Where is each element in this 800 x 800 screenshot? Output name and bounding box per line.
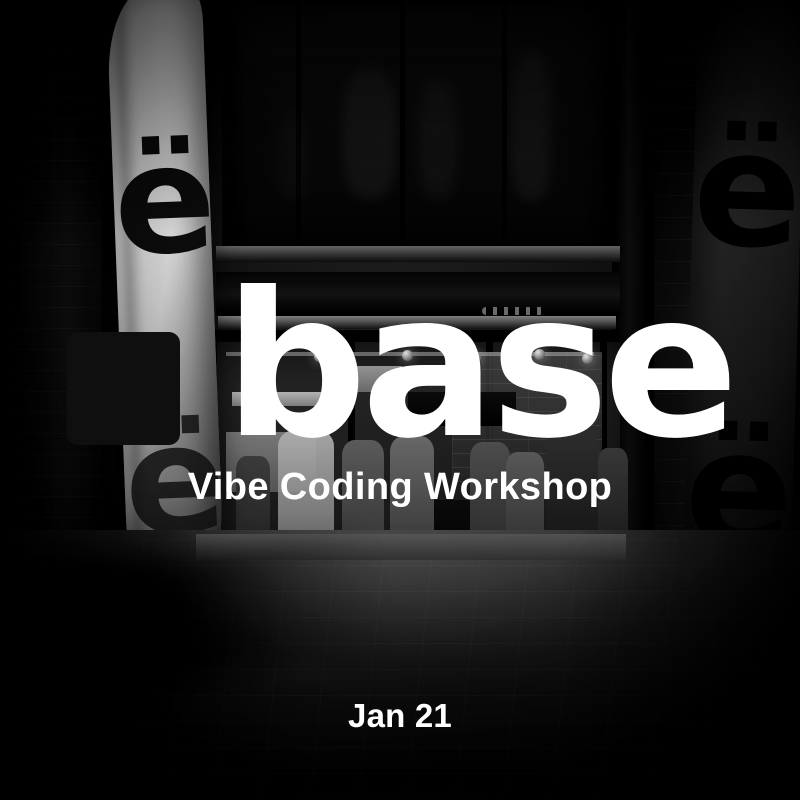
poster-subtitle: Vibe Coding Workshop (0, 466, 800, 509)
event-date: Jan 21 (0, 697, 800, 735)
event-poster: ë ë ë ë base Vibe Coding Workshop Jan 21 (0, 0, 800, 800)
wordmark: base (224, 289, 733, 445)
blue-square-logo-mark (67, 332, 180, 445)
poster-overlay: base Vibe Coding Workshop Jan 21 (0, 0, 800, 800)
logo-lockup: base (0, 288, 800, 445)
